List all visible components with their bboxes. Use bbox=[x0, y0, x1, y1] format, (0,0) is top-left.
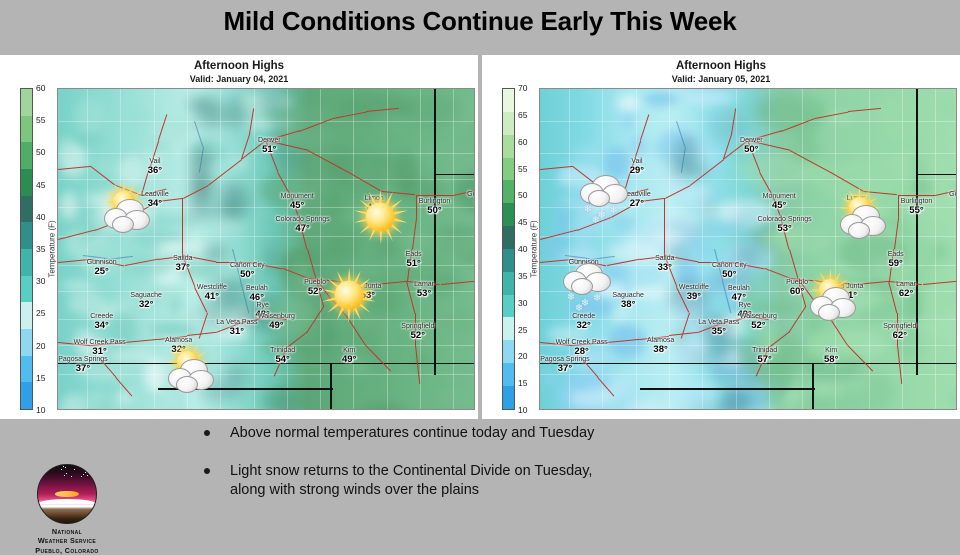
city-temperature-value: 57° bbox=[752, 355, 777, 365]
city-temperature-label: Creede34° bbox=[90, 313, 113, 331]
colorbar-left: 6055504540353025201510 Temperature (F) bbox=[16, 88, 60, 410]
nws-logo-disc bbox=[37, 464, 97, 524]
county-boundary bbox=[869, 89, 870, 409]
colorbar-segment bbox=[21, 356, 32, 383]
colorbar-segment bbox=[503, 363, 514, 386]
city-temperature-value: 28° bbox=[556, 347, 608, 357]
highway-line bbox=[182, 198, 183, 230]
city-temperature-value: 39° bbox=[679, 292, 709, 302]
sun-behind-cloud-icon bbox=[164, 345, 226, 397]
city-temperature-label: Goodland50° bbox=[467, 191, 475, 209]
city-temperature-value: 49° bbox=[342, 355, 356, 365]
highway-line bbox=[664, 230, 665, 256]
colorbar-segment bbox=[503, 158, 514, 181]
city-temperature-value: 45° bbox=[281, 201, 314, 211]
city-temperature-label: Pueblo60° bbox=[786, 279, 808, 297]
city-temperature-label: Kim49° bbox=[342, 347, 356, 365]
highway-line bbox=[416, 195, 453, 196]
city-temperature-label: Denver51° bbox=[258, 137, 281, 155]
highway-line bbox=[898, 195, 935, 196]
temperature-contour-patch bbox=[60, 192, 78, 220]
star-dot bbox=[63, 466, 64, 467]
colorbar-segment bbox=[21, 329, 32, 356]
colorbar-tick-label: 55 bbox=[518, 164, 527, 174]
star-dot bbox=[87, 475, 88, 476]
colorbar-tick-label: 60 bbox=[36, 83, 45, 93]
city-temperature-value: 41° bbox=[197, 292, 227, 302]
city-temperature-label: Springfield62° bbox=[883, 323, 916, 341]
city-temperature-value: 62° bbox=[883, 331, 916, 341]
city-temperature-value: 54° bbox=[270, 355, 295, 365]
star-dot bbox=[79, 466, 80, 467]
bullet-marker bbox=[204, 430, 210, 436]
star-dot bbox=[81, 476, 82, 477]
sun-disc bbox=[335, 281, 364, 310]
star-dot bbox=[71, 476, 72, 477]
city-temperature-label: Burlington55° bbox=[901, 198, 933, 216]
city-temperature-label: Pagosa Springs37° bbox=[58, 356, 107, 374]
city-temperature-value: 59° bbox=[888, 259, 904, 269]
temperature-contour-patch bbox=[710, 90, 744, 98]
bullet-text: Light snow returns to the Continental Di… bbox=[230, 462, 836, 500]
city-name: Goodland bbox=[467, 191, 475, 199]
city-temperature-label: Eads51° bbox=[406, 251, 422, 269]
city-temperature-value: 32° bbox=[130, 300, 162, 310]
city-temperature-value: 53° bbox=[758, 224, 812, 234]
snowflake-icon: ❄ bbox=[567, 293, 575, 303]
temperature-map-left[interactable]: Denver51°Vail36°Leadville34°Monument45°L… bbox=[57, 88, 475, 410]
forecast-panel-right: Afternoon Highs Valid: January 05, 2021 … bbox=[482, 55, 960, 419]
county-boundary bbox=[254, 89, 255, 409]
city-temperature-label: Lamar62° bbox=[896, 281, 916, 299]
mountain-snow-shape bbox=[38, 499, 96, 505]
cloud-icon bbox=[164, 359, 222, 393]
city-temperature-label: Walsenburg49° bbox=[258, 313, 295, 331]
snowflake-icon: ❄ bbox=[593, 294, 601, 304]
city-temperature-value: 34° bbox=[90, 321, 113, 331]
temperature-contour-patch bbox=[737, 155, 810, 189]
star-dot bbox=[61, 469, 62, 470]
city-temperature-label: Springfield52° bbox=[401, 323, 434, 341]
city-temperature-value: 52° bbox=[740, 321, 777, 331]
colorbar-segment bbox=[21, 116, 32, 143]
cloud-snow-icon: ❄❄❄❄ bbox=[576, 173, 638, 225]
temperature-contour-patch bbox=[690, 404, 717, 410]
cloud-puff bbox=[818, 304, 840, 321]
colorbar-tick-label: 50 bbox=[36, 147, 45, 157]
temperature-contour-patch bbox=[106, 383, 116, 410]
colorbar-segment bbox=[21, 196, 32, 223]
colorbar-tick-label: 15 bbox=[518, 378, 527, 388]
temperature-contour-patch bbox=[75, 97, 107, 133]
colorbar-segment bbox=[21, 89, 32, 116]
star-dot bbox=[83, 474, 84, 475]
city-temperature-value: 37° bbox=[58, 364, 107, 374]
cloud-snow-icon: ❄❄❄❄ bbox=[559, 261, 621, 313]
colorbar-tick-label: 15 bbox=[36, 373, 45, 383]
colorbar-segment bbox=[503, 340, 514, 363]
state-boundary bbox=[58, 363, 474, 365]
colorbar-tick-label: 20 bbox=[36, 341, 45, 351]
state-boundary bbox=[812, 363, 814, 409]
sun-behind-cloud-icon bbox=[836, 191, 898, 243]
city-temperature-label: Westcliffe41° bbox=[197, 284, 227, 302]
colorbar-segment bbox=[503, 112, 514, 135]
colorbar-tick-label: 40 bbox=[36, 212, 45, 222]
city-temperature-value: 55° bbox=[901, 206, 933, 216]
colorbar-segment bbox=[503, 249, 514, 272]
panel-left-subtitle: Valid: January 04, 2021 bbox=[0, 74, 478, 84]
temperature-contour-patch bbox=[872, 96, 941, 131]
temperature-contour-patch bbox=[469, 401, 475, 410]
state-boundary bbox=[330, 363, 332, 409]
colorbar-segment bbox=[503, 203, 514, 226]
temperature-contour-patch bbox=[197, 100, 223, 127]
temperature-contour-patch bbox=[360, 402, 406, 411]
star-dot bbox=[65, 467, 66, 468]
panel-left-title: Afternoon Highs bbox=[0, 60, 478, 72]
colorbar-segment bbox=[21, 302, 32, 329]
temperature-contour-patch bbox=[220, 183, 248, 215]
city-temperature-value: 31° bbox=[216, 327, 257, 337]
logo-line-3: Pueblo, Colorado bbox=[12, 546, 122, 555]
city-temperature-label: Gunnison25° bbox=[87, 259, 117, 277]
temperature-contour-patch bbox=[202, 246, 228, 260]
city-temperature-value: 37° bbox=[173, 263, 192, 273]
city-temperature-value: 52° bbox=[401, 331, 434, 341]
county-boundary bbox=[736, 89, 737, 409]
city-temperature-label: Salida37° bbox=[173, 255, 192, 273]
county-boundary bbox=[453, 89, 454, 409]
sun-behind-cloud-icon bbox=[100, 185, 162, 237]
colorbar-tick-label: 45 bbox=[518, 217, 527, 227]
colorbar-tick-label: 40 bbox=[518, 244, 527, 254]
cloud-icon bbox=[806, 287, 864, 321]
temperature-map-right[interactable]: Denver50°Vail29°Leadville27°Monument45°L… bbox=[539, 88, 957, 410]
city-temperature-value: 36° bbox=[148, 166, 162, 176]
temperature-contour-patch bbox=[649, 285, 668, 300]
nws-logo: National Weather Service Pueblo, Colorad… bbox=[12, 464, 122, 555]
city-temperature-value: 54° bbox=[949, 199, 957, 209]
state-boundary bbox=[916, 89, 918, 375]
city-temperature-label: Kim58° bbox=[824, 347, 838, 365]
city-temperature-label: Alamosa38° bbox=[647, 337, 674, 355]
city-temperature-label: Trinidad57° bbox=[752, 347, 777, 365]
temperature-contour-patch bbox=[265, 244, 278, 276]
city-temperature-label: Burlington50° bbox=[419, 198, 451, 216]
colorbar-tick-label: 30 bbox=[36, 276, 45, 286]
star-dot bbox=[66, 473, 67, 474]
city-temperature-label: La Veta Pass35° bbox=[698, 319, 739, 337]
colorbar-segment bbox=[21, 169, 32, 196]
colorbar-tick-label: 35 bbox=[518, 271, 527, 281]
colorbar-segment bbox=[503, 226, 514, 249]
bullet-item: Light snow returns to the Continental Di… bbox=[196, 462, 836, 500]
summary-bullets: Above normal temperatures continue today… bbox=[196, 424, 836, 519]
temperature-contour-patch bbox=[909, 154, 930, 180]
colorbar-tick-label: 10 bbox=[36, 405, 45, 415]
county-boundary bbox=[702, 89, 703, 409]
cloud-icon bbox=[100, 199, 158, 233]
county-boundary bbox=[669, 89, 670, 409]
highway-line bbox=[182, 230, 183, 256]
city-temperature-label: Cañon City50° bbox=[230, 262, 265, 280]
city-temperature-value: 50° bbox=[467, 199, 475, 209]
colorbar-tick-label: 25 bbox=[518, 325, 527, 335]
city-temperature-label: Monument45° bbox=[763, 193, 796, 211]
temperature-contour-patch bbox=[929, 401, 957, 410]
colorbar-tick-label: 65 bbox=[518, 110, 527, 120]
city-temperature-value: 31° bbox=[74, 347, 126, 357]
temperature-contour-patch bbox=[727, 388, 746, 410]
colorbar-left-axis-label: Temperature (F) bbox=[48, 220, 57, 277]
colorbar-segment bbox=[503, 295, 514, 318]
colorbar-tick-label: 10 bbox=[518, 405, 527, 415]
bullet-text: Above normal temperatures continue today… bbox=[230, 424, 836, 443]
city-temperature-value: 58° bbox=[824, 355, 838, 365]
city-temperature-label: Beulah47° bbox=[728, 285, 750, 303]
panel-right-subtitle: Valid: January 05, 2021 bbox=[482, 74, 960, 84]
colorbar-tick-label: 55 bbox=[36, 115, 45, 125]
city-temperature-value: 50° bbox=[230, 270, 265, 280]
sun-icon bbox=[318, 269, 380, 321]
colorbar-tick-label: 45 bbox=[36, 180, 45, 190]
star-dot bbox=[74, 469, 75, 470]
colorbar-tick-label: 60 bbox=[518, 137, 527, 147]
temperature-contour-patch bbox=[728, 213, 748, 228]
state-boundary bbox=[434, 174, 475, 176]
state-boundary bbox=[916, 174, 957, 176]
colorbar-tick-label: 50 bbox=[518, 190, 527, 200]
temperature-contour-patch bbox=[224, 98, 247, 128]
bullet-item: Above normal temperatures continue today… bbox=[196, 424, 836, 443]
city-temperature-label: Beulah46° bbox=[246, 285, 268, 303]
city-temperature-value: 38° bbox=[647, 345, 674, 355]
highway-line bbox=[898, 195, 899, 217]
star-dot bbox=[85, 466, 86, 467]
bullet-marker bbox=[204, 468, 210, 474]
colorbar-segment bbox=[503, 89, 514, 112]
forecast-panel-left: Afternoon Highs Valid: January 04, 2021 … bbox=[0, 55, 478, 419]
city-temperature-label: Westcliffe39° bbox=[679, 284, 709, 302]
city-temperature-label: Saguache32° bbox=[130, 292, 162, 310]
colorbar-segment bbox=[21, 222, 32, 249]
city-temperature-value: 33° bbox=[655, 263, 674, 273]
temperature-contour-patch bbox=[668, 228, 715, 236]
county-boundary bbox=[902, 89, 903, 409]
city-temperature-label: Eads59° bbox=[888, 251, 904, 269]
county-boundary bbox=[387, 89, 388, 409]
city-temperature-value: 49° bbox=[258, 321, 295, 331]
temperature-contour-patch bbox=[455, 140, 474, 153]
city-temperature-label: La Veta Pass31° bbox=[216, 319, 257, 337]
colorbar-segment bbox=[21, 382, 32, 409]
snowflake-icon: ❄ bbox=[575, 304, 583, 314]
city-name: Goodland bbox=[949, 191, 957, 199]
city-temperature-value: 60° bbox=[786, 287, 808, 297]
sun-shape bbox=[55, 491, 78, 498]
colorbar-segment bbox=[503, 317, 514, 340]
cloud-puff bbox=[848, 222, 870, 239]
city-temperature-label: Vail36° bbox=[148, 158, 162, 176]
city-temperature-label: Denver50° bbox=[740, 137, 763, 155]
colorbar-segment bbox=[503, 272, 514, 295]
colorbar-tick-label: 25 bbox=[36, 308, 45, 318]
cloud-icon bbox=[578, 175, 636, 207]
snowflake-icon: ❄ bbox=[592, 216, 600, 226]
county-boundary bbox=[636, 89, 637, 409]
logo-line-1: National bbox=[12, 527, 122, 536]
cloud-puff bbox=[176, 376, 198, 393]
colorbar-right: 70656055504540353025201510 Temperature (… bbox=[498, 88, 542, 410]
snowflake-icon: ❄ bbox=[584, 205, 592, 215]
city-temperature-value: 35° bbox=[698, 327, 739, 337]
star-dot bbox=[85, 472, 86, 473]
highway-line bbox=[664, 198, 665, 230]
temperature-contour-patch bbox=[956, 286, 957, 306]
colorbar-segment bbox=[21, 249, 32, 276]
colorbar-segment bbox=[503, 386, 514, 409]
city-temperature-label: Trinidad54° bbox=[270, 347, 295, 365]
city-temperature-label: Wolf Creek Pass28° bbox=[556, 339, 608, 357]
state-boundary bbox=[434, 89, 436, 375]
city-temperature-label: Colorado Springs47° bbox=[276, 216, 330, 234]
panel-right-title: Afternoon Highs bbox=[482, 60, 960, 72]
temperature-contour-patch bbox=[455, 333, 475, 361]
sun-icon bbox=[349, 191, 411, 243]
star-dot bbox=[93, 472, 94, 473]
temperature-contour-patch bbox=[394, 152, 418, 195]
star-dot bbox=[64, 475, 65, 476]
city-temperature-label: Salida33° bbox=[655, 255, 674, 273]
city-temperature-value: 51° bbox=[258, 145, 281, 155]
city-temperature-value: 62° bbox=[896, 289, 916, 299]
city-temperature-label: Colorado Springs53° bbox=[758, 216, 812, 234]
county-boundary bbox=[802, 89, 803, 409]
snowflake-icon: ❄ bbox=[610, 206, 618, 216]
temperature-contour-patch bbox=[644, 92, 679, 106]
temperature-contour-patch bbox=[410, 391, 433, 403]
city-temperature-label: Pagosa Springs37° bbox=[540, 356, 589, 374]
city-temperature-label: Creede32° bbox=[572, 313, 595, 331]
city-temperature-value: 50° bbox=[419, 206, 451, 216]
colorbar-tick-label: 70 bbox=[518, 83, 527, 93]
city-temperature-label: Cañon City50° bbox=[712, 262, 747, 280]
logo-line-2: Weather Service bbox=[12, 536, 122, 545]
colorbar-segment bbox=[21, 276, 32, 303]
colorbar-segment bbox=[503, 180, 514, 203]
county-boundary bbox=[935, 89, 936, 409]
city-temperature-label: Walsenburg52° bbox=[740, 313, 777, 331]
state-boundary bbox=[540, 363, 956, 365]
county-boundary bbox=[320, 89, 321, 409]
cloud-icon bbox=[561, 263, 619, 295]
city-temperature-value: 25° bbox=[87, 267, 117, 277]
highway-line bbox=[416, 195, 417, 217]
temperature-contour-patch bbox=[877, 129, 944, 140]
city-temperature-value: 32° bbox=[572, 321, 595, 331]
city-temperature-value: 51° bbox=[406, 259, 422, 269]
temperature-contour-patch bbox=[792, 397, 854, 410]
cloud-puff bbox=[112, 216, 134, 233]
city-temperature-label: Goodland54° bbox=[949, 191, 957, 209]
sun-behind-cloud-icon bbox=[806, 273, 868, 325]
colorbar-tick-label: 20 bbox=[518, 351, 527, 361]
city-temperature-value: 53° bbox=[414, 289, 434, 299]
county-boundary bbox=[420, 89, 421, 409]
colorbar-segment bbox=[503, 135, 514, 158]
county-boundary bbox=[120, 89, 121, 409]
county-boundary bbox=[154, 89, 155, 409]
page-title: Mild Conditions Continue Early This Week bbox=[0, 6, 960, 37]
city-temperature-value: 50° bbox=[712, 270, 747, 280]
temperature-contour-patch bbox=[542, 238, 567, 260]
city-temperature-value: 37° bbox=[540, 364, 589, 374]
city-temperature-value: 47° bbox=[276, 224, 330, 234]
colorbar-tick-label: 30 bbox=[518, 298, 527, 308]
colorbar-left-strip bbox=[20, 88, 33, 410]
colorbar-right-axis-label: Temperature (F) bbox=[530, 220, 539, 277]
sun-disc bbox=[366, 203, 395, 232]
colorbar-right-strip bbox=[502, 88, 515, 410]
city-temperature-value: 50° bbox=[740, 145, 763, 155]
colorbar-segment bbox=[21, 142, 32, 169]
temperature-contour-patch bbox=[439, 390, 470, 405]
temperature-contour-patch bbox=[374, 112, 405, 131]
city-temperature-label: Monument45° bbox=[281, 193, 314, 211]
city-temperature-value: 45° bbox=[763, 201, 796, 211]
state-boundary bbox=[640, 388, 815, 390]
cloud-icon bbox=[836, 205, 894, 239]
county-boundary bbox=[602, 89, 603, 409]
colorbar-tick-label: 35 bbox=[36, 244, 45, 254]
city-temperature-label: Wolf Creek Pass31° bbox=[74, 339, 126, 357]
city-temperature-label: Lamar53° bbox=[414, 281, 434, 299]
temperature-contour-patch bbox=[60, 281, 96, 289]
